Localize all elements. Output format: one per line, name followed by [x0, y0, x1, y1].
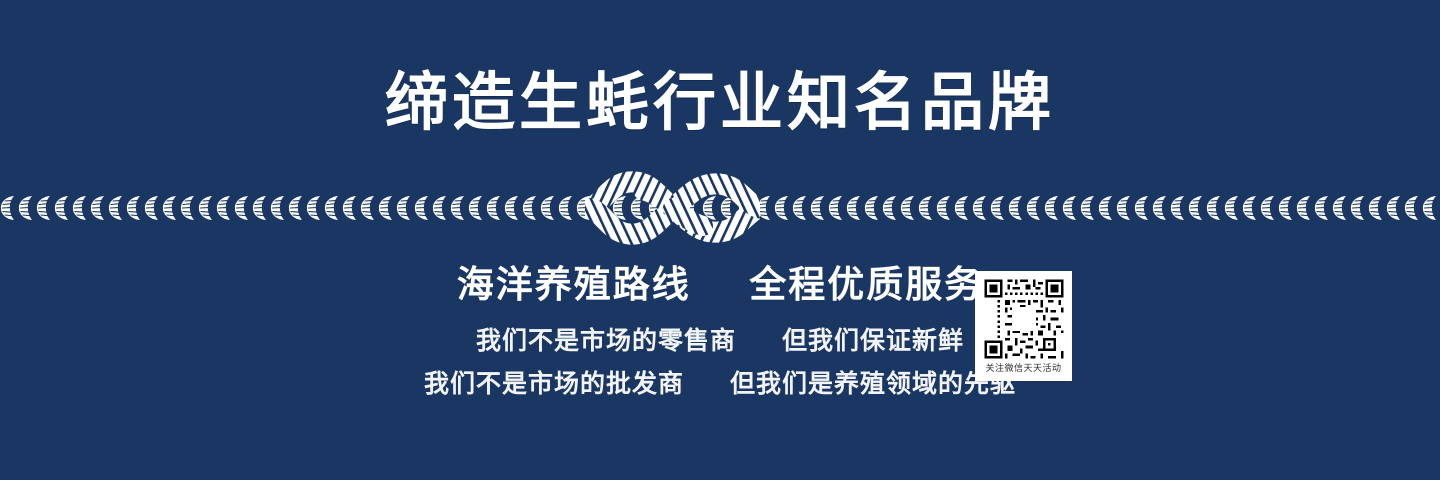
rope-divider [0, 168, 1440, 248]
qr-panel[interactable]: 关注微信天天活动 [975, 271, 1072, 381]
rope-knot-icon [585, 168, 760, 248]
brand-logo-icon [1012, 307, 1036, 331]
body-line-2: 我们不是市场的批发商 但我们是养殖领域的先驱 [0, 363, 1440, 406]
body-line-1-left: 我们不是市场的零售商 [476, 327, 736, 355]
body-line-2-right: 但我们是养殖领域的先驱 [730, 370, 1016, 398]
promo-banner: 缔造生蚝行业知名品牌 [0, 0, 1440, 480]
page-title: 缔造生蚝行业知名品牌 [0, 68, 1440, 139]
subheadline-left: 海洋养殖路线 [457, 264, 691, 305]
body-text: 我们不是市场的零售商 但我们保证新鲜 我们不是市场的批发商 但我们是养殖领域的先… [0, 320, 1440, 406]
body-line-2-left: 我们不是市场的批发商 [424, 370, 684, 398]
body-line-1-right: 但我们保证新鲜 [782, 327, 964, 355]
subheadline: 海洋养殖路线 全程优质服务 [0, 263, 1440, 307]
qr-caption: 关注微信天天活动 [985, 362, 1061, 375]
subheadline-right: 全程优质服务 [749, 264, 983, 305]
body-line-1: 我们不是市场的零售商 但我们保证新鲜 [0, 320, 1440, 363]
qr-code[interactable] [982, 277, 1066, 361]
